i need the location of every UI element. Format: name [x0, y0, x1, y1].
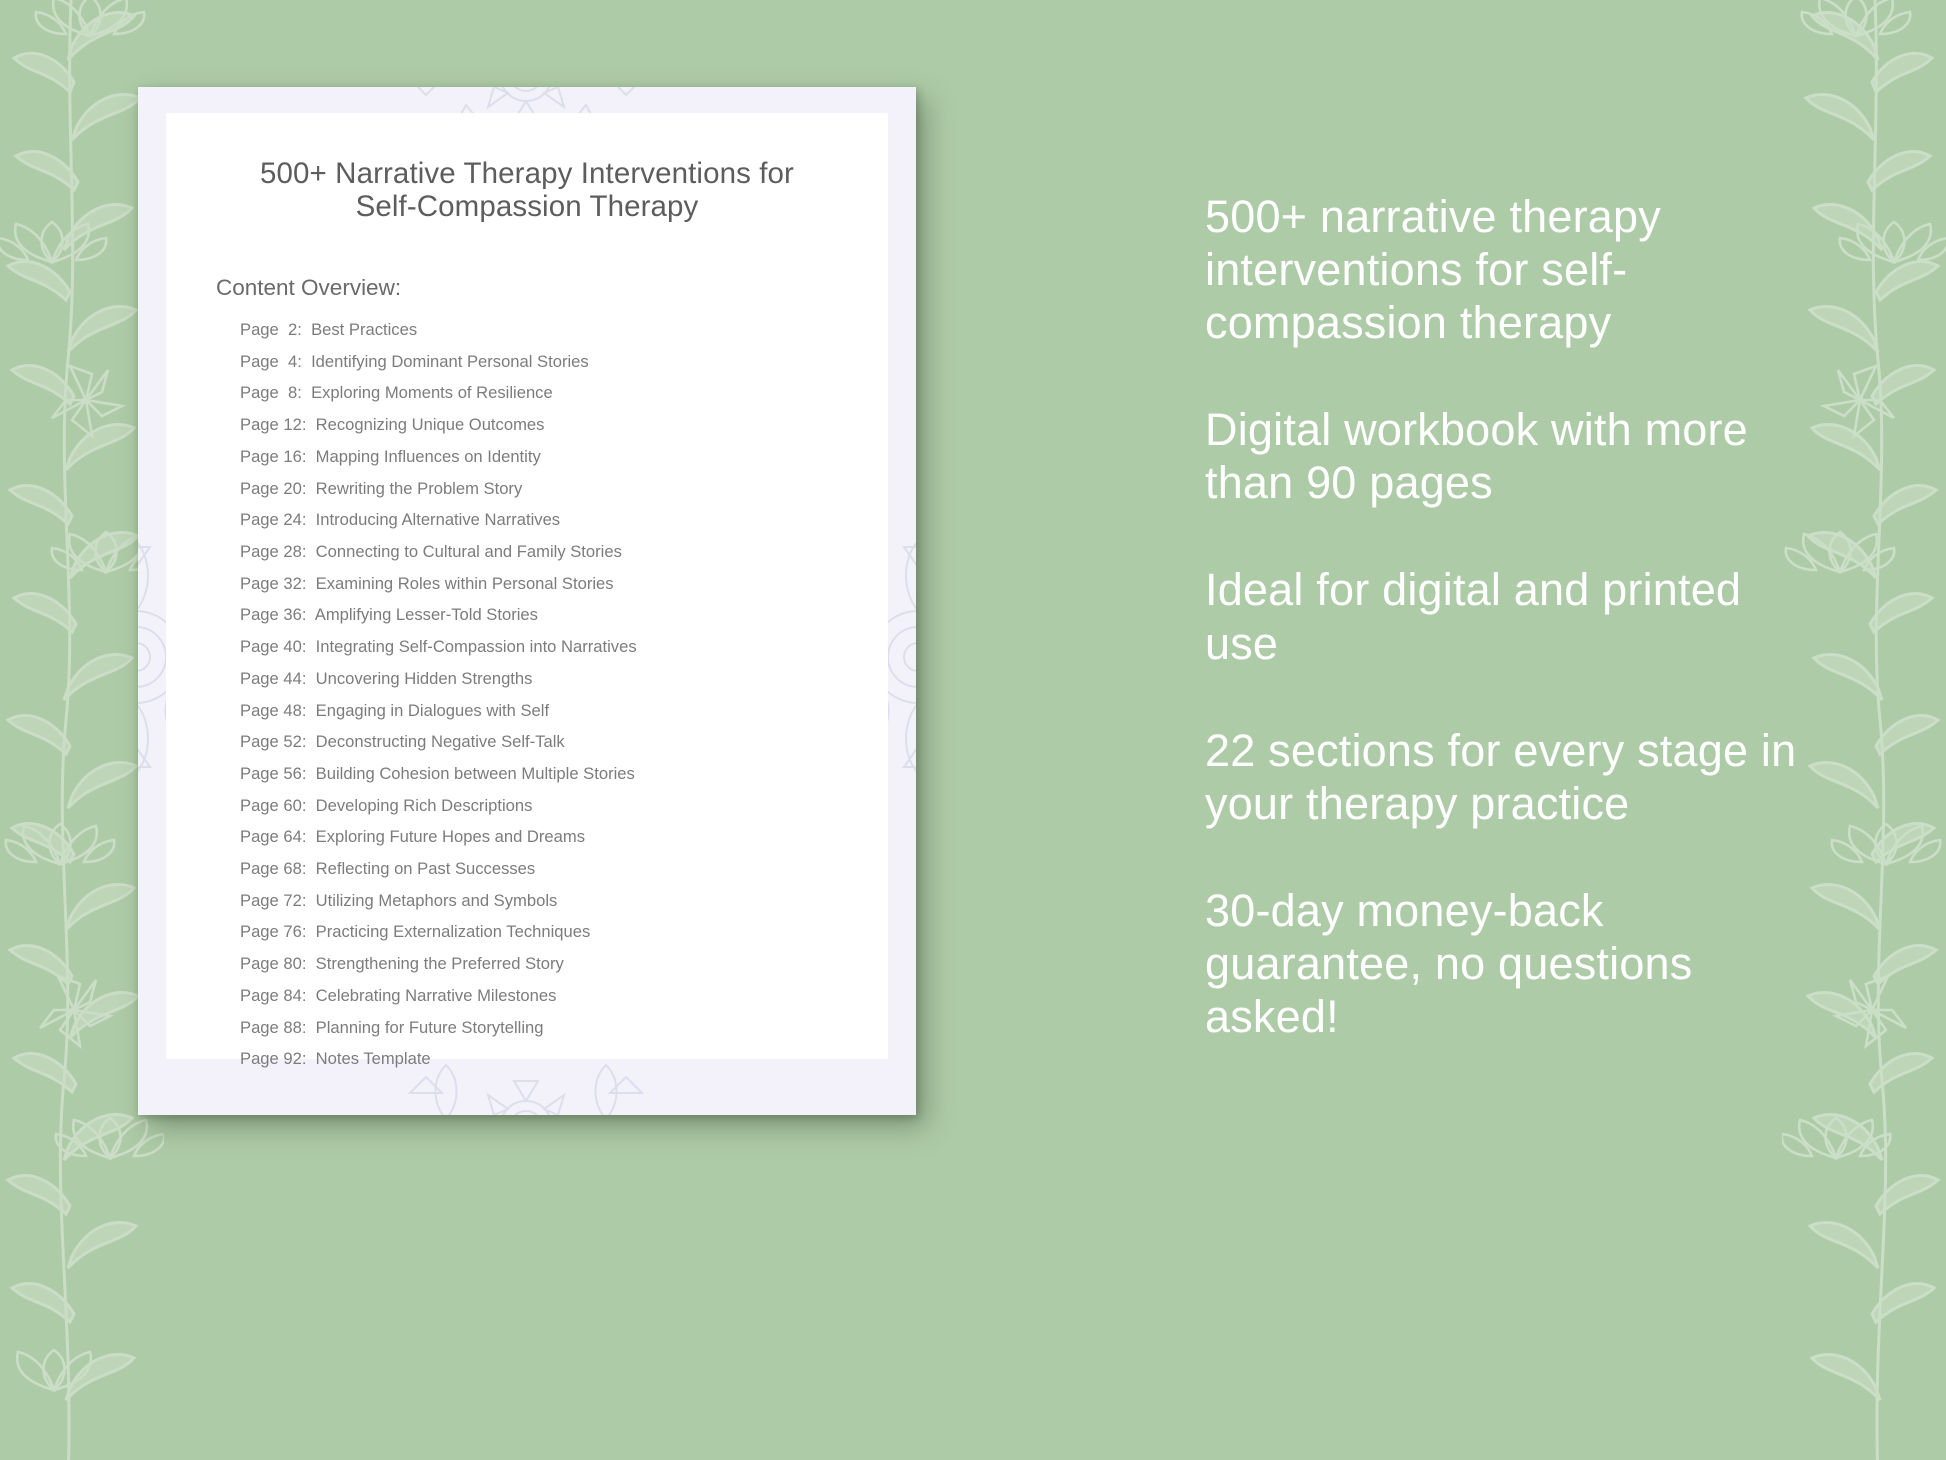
- toc-entry-title: Rewriting the Problem Story: [316, 479, 523, 498]
- toc-entry: Page 24: Introducing Alternative Narrati…: [240, 504, 888, 536]
- toc-entry-page: Page 24:: [240, 510, 306, 529]
- toc-entry-title: Engaging in Dialogues with Self: [316, 701, 549, 720]
- toc-entry: Page 52: Deconstructing Negative Self-Ta…: [240, 726, 888, 758]
- toc-entry-title: Introducing Alternative Narratives: [316, 510, 560, 529]
- toc-entry-page: Page 80:: [240, 954, 306, 973]
- toc-entry-page: Page 92:: [240, 1049, 306, 1068]
- toc-entry-title: Building Cohesion between Multiple Stori…: [316, 764, 635, 783]
- toc-entry: Page 32: Examining Roles within Personal…: [240, 568, 888, 600]
- toc-entry-page: Page 84:: [240, 986, 306, 1005]
- toc-entry: Page 84: Celebrating Narrative Milestone…: [240, 980, 888, 1012]
- toc-entry-title: Planning for Future Storytelling: [316, 1018, 544, 1037]
- toc-entry-page: Page 4:: [240, 352, 302, 371]
- toc-entry-page: Page 32:: [240, 574, 306, 593]
- marketing-bullet: Ideal for digital and printed use: [1205, 563, 1825, 669]
- toc-entry-page: Page 28:: [240, 542, 306, 561]
- toc-entry-page: Page 72:: [240, 891, 306, 910]
- toc-entry-title: Utilizing Metaphors and Symbols: [316, 891, 558, 910]
- toc-entry-page: Page 64:: [240, 827, 306, 846]
- toc-entry: Page 12: Recognizing Unique Outcomes: [240, 409, 888, 441]
- marketing-bullet: Digital workbook with more than 90 pages: [1205, 403, 1825, 509]
- toc-entry-page: Page 44:: [240, 669, 306, 688]
- page-title-line-1: 500+ Narrative Therapy Interventions for: [218, 157, 836, 190]
- toc-entry: Page 80: Strengthening the Preferred Sto…: [240, 948, 888, 980]
- toc-entry-page: Page 12:: [240, 415, 306, 434]
- toc-entry: Page 56: Building Cohesion between Multi…: [240, 758, 888, 790]
- toc-entry-title: Recognizing Unique Outcomes: [316, 415, 545, 434]
- document-preview-card[interactable]: 500+ Narrative Therapy Interventions for…: [138, 87, 916, 1115]
- toc-entry: Page 64: Exploring Future Hopes and Drea…: [240, 821, 888, 853]
- toc-entry-page: Page 56:: [240, 764, 306, 783]
- toc-entry-page: Page 52:: [240, 732, 306, 751]
- toc-entry-title: Notes Template: [316, 1049, 431, 1068]
- toc-entry-page: Page 60:: [240, 796, 306, 815]
- toc-entry-page: Page 68:: [240, 859, 306, 878]
- toc-entry-title: Connecting to Cultural and Family Storie…: [316, 542, 622, 561]
- toc-entry: Page 36: Amplifying Lesser-Told Stories: [240, 599, 888, 631]
- page-title-line-2: Self-Compassion Therapy: [218, 190, 836, 223]
- marketing-bullet: 500+ narrative therapy interventions for…: [1205, 190, 1825, 349]
- toc-entry: Page 4: Identifying Dominant Personal St…: [240, 346, 888, 378]
- toc-entry: Page 76: Practicing Externalization Tech…: [240, 916, 888, 948]
- toc-entry: Page 16: Mapping Influences on Identity: [240, 441, 888, 473]
- toc-entry-title: Developing Rich Descriptions: [316, 796, 533, 815]
- toc-entry-title: Mapping Influences on Identity: [316, 447, 541, 466]
- toc-entry-page: Page 20:: [240, 479, 306, 498]
- toc-entry-page: Page 36:: [240, 605, 306, 624]
- toc-entry-title: Integrating Self-Compassion into Narrati…: [316, 637, 637, 656]
- toc-entry-page: Page 48:: [240, 701, 306, 720]
- toc-entry: Page 20: Rewriting the Problem Story: [240, 473, 888, 505]
- toc-entry-title: Best Practices: [311, 320, 417, 339]
- toc-entry-page: Page 88:: [240, 1018, 306, 1037]
- toc-entry: Page 88: Planning for Future Storytellin…: [240, 1012, 888, 1044]
- toc-entry-title: Exploring Future Hopes and Dreams: [316, 827, 585, 846]
- toc-entry-title: Identifying Dominant Personal Stories: [311, 352, 589, 371]
- toc-entry: Page 68: Reflecting on Past Successes: [240, 853, 888, 885]
- toc-entry: Page 2: Best Practices: [240, 314, 888, 346]
- page-title: 500+ Narrative Therapy Interventions for…: [218, 157, 836, 223]
- toc-entry-page: Page 2:: [240, 320, 302, 339]
- toc-entry-title: Examining Roles within Personal Stories: [316, 574, 614, 593]
- toc-entry-title: Practicing Externalization Techniques: [316, 922, 591, 941]
- toc-entry: Page 44: Uncovering Hidden Strengths: [240, 663, 888, 695]
- toc-entry-page: Page 76:: [240, 922, 306, 941]
- toc-entry: Page 28: Connecting to Cultural and Fami…: [240, 536, 888, 568]
- toc-entry-title: Exploring Moments of Resilience: [311, 383, 553, 402]
- toc-entry: Page 48: Engaging in Dialogues with Self: [240, 695, 888, 727]
- marketing-bullet: 22 sections for every stage in your ther…: [1205, 724, 1825, 830]
- toc-entry-page: Page 16:: [240, 447, 306, 466]
- content-overview-label: Content Overview:: [216, 275, 888, 301]
- toc-entry-title: Uncovering Hidden Strengths: [316, 669, 533, 688]
- marketing-bullet: 30-day money-back guarantee, no question…: [1205, 884, 1825, 1043]
- toc-entry-title: Celebrating Narrative Milestones: [316, 986, 557, 1005]
- toc-entry-page: Page 40:: [240, 637, 306, 656]
- toc-entry-title: Strengthening the Preferred Story: [316, 954, 564, 973]
- toc-entry-page: Page 8:: [240, 383, 302, 402]
- toc-entry-title: Amplifying Lesser-Told Stories: [315, 605, 538, 624]
- toc-entry-title: Deconstructing Negative Self-Talk: [316, 732, 565, 751]
- toc-entry: Page 72: Utilizing Metaphors and Symbols: [240, 885, 888, 917]
- toc-entry: Page 60: Developing Rich Descriptions: [240, 790, 888, 822]
- toc-entry: Page 92: Notes Template: [240, 1043, 888, 1075]
- document-page: 500+ Narrative Therapy Interventions for…: [166, 113, 888, 1059]
- marketing-bullets: 500+ narrative therapy interventions for…: [1205, 190, 1825, 1043]
- toc-entry-title: Reflecting on Past Successes: [316, 859, 536, 878]
- toc-entry: Page 40: Integrating Self-Compassion int…: [240, 631, 888, 663]
- table-of-contents: Page 2: Best PracticesPage 4: Identifyin…: [240, 314, 888, 1075]
- toc-entry: Page 8: Exploring Moments of Resilience: [240, 377, 888, 409]
